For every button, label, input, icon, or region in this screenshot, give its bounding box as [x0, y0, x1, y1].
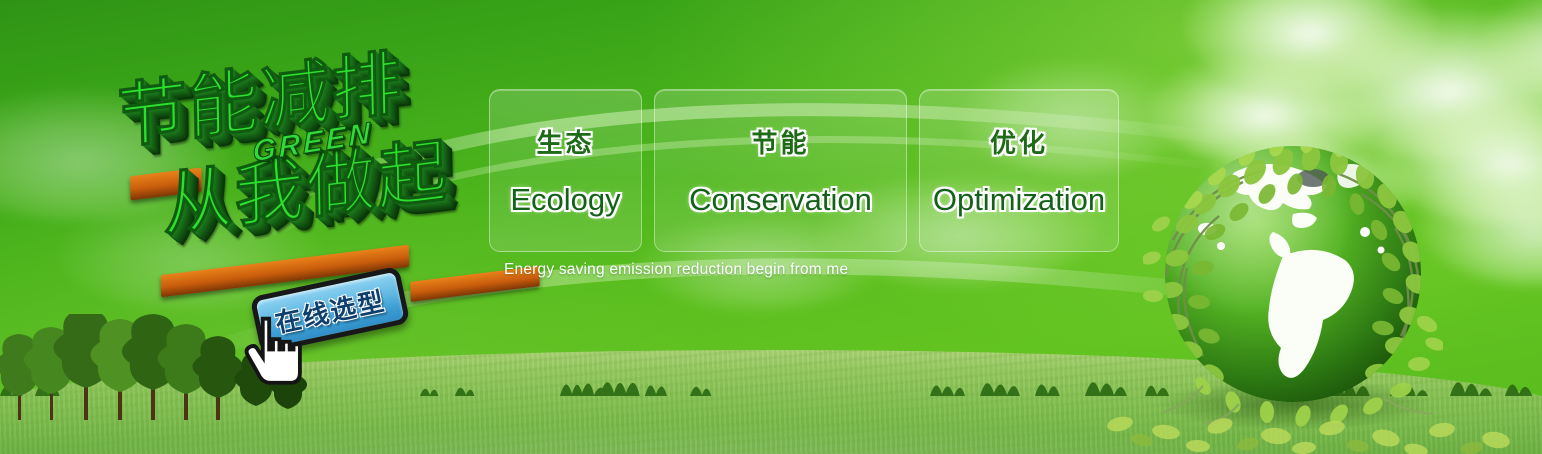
- headline-overlay-word: GREEN: [252, 116, 373, 169]
- foreground-leaf-litter: [1080, 368, 1542, 454]
- feature-card-list: 生态 Ecology 节能 Conservation 优化 Optimizati…: [489, 89, 1119, 252]
- cloud-icon: [0, 90, 230, 220]
- feature-card-title-en: Conservation: [689, 182, 872, 218]
- feature-card-title-en: Ecology: [510, 182, 620, 218]
- headline-line-2: 从我做起: [162, 114, 450, 251]
- feature-card-title-en: Optimization: [933, 182, 1105, 218]
- cloud-icon: [1185, 0, 1435, 92]
- headline-3d: 节能减排 从我做起 GREEN: [100, 36, 490, 276]
- pointing-hand-cursor-icon: [232, 311, 314, 393]
- feature-card-title-cn: 生态: [536, 123, 594, 160]
- cloud-icon: [1480, 0, 1542, 100]
- feature-card-conservation[interactable]: 节能 Conservation: [654, 89, 907, 252]
- online-selection-cta[interactable]: 在线选型: [254, 277, 414, 355]
- feature-card-title-cn: 优化: [990, 123, 1048, 160]
- green-banner: 节能减排 从我做起 GREEN 在线选型 生态 Ecology 节能 Conse…: [0, 0, 1542, 454]
- banner-tagline: Energy saving emission reduction begin f…: [504, 261, 848, 279]
- feature-card-ecology[interactable]: 生态 Ecology: [489, 89, 642, 252]
- headline-line-1: 节能减排: [116, 26, 404, 163]
- feature-card-title-cn: 节能: [751, 123, 809, 160]
- headline-base-slab: [130, 168, 202, 201]
- feature-card-optimization[interactable]: 优化 Optimization: [919, 89, 1119, 252]
